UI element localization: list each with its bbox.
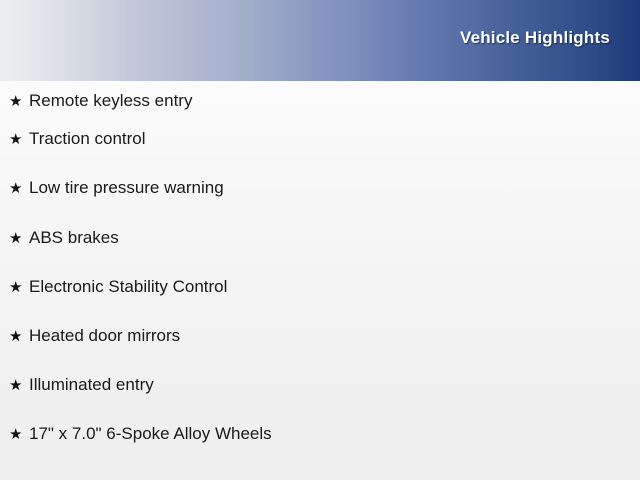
list-item-label: Heated door mirrors — [29, 327, 180, 344]
list-item: ★ Electronic Stability Control — [0, 278, 640, 327]
vehicle-highlights-page: Vehicle Highlights ★ Remote keyless entr… — [0, 0, 640, 480]
list-item: ★ Heated door mirrors — [0, 327, 640, 376]
star-bullet-icon: ★ — [9, 231, 29, 246]
star-bullet-icon: ★ — [9, 181, 29, 196]
list-item-label: ABS brakes — [29, 229, 119, 246]
list-item-label: Traction control — [29, 130, 146, 147]
list-item-label: Low tire pressure warning — [29, 179, 224, 196]
list-item-label: 17" x 7.0" 6-Spoke Alloy Wheels — [29, 425, 272, 442]
list-item: ★ Remote keyless entry — [0, 81, 640, 130]
list-item: ★ Illuminated entry — [0, 376, 640, 425]
page-title: Vehicle Highlights — [460, 28, 610, 48]
list-item-label: Remote keyless entry — [29, 92, 192, 109]
star-bullet-icon: ★ — [9, 280, 29, 295]
star-bullet-icon: ★ — [9, 427, 29, 442]
list-item: ★ 17" x 7.0" 6-Spoke Alloy Wheels — [0, 425, 640, 474]
vehicle-highlights-list: ★ Remote keyless entry ★ Traction contro… — [0, 81, 640, 475]
list-item: ★ ABS brakes — [0, 229, 640, 278]
star-bullet-icon: ★ — [9, 94, 29, 109]
star-bullet-icon: ★ — [9, 132, 29, 147]
star-bullet-icon: ★ — [9, 378, 29, 393]
list-item-label: Electronic Stability Control — [29, 278, 227, 295]
star-bullet-icon: ★ — [9, 329, 29, 344]
list-item: ★ Low tire pressure warning — [0, 179, 640, 228]
header-banner: Vehicle Highlights — [0, 0, 640, 81]
list-item-label: Illuminated entry — [29, 376, 154, 393]
list-item: ★ Traction control — [0, 130, 640, 179]
